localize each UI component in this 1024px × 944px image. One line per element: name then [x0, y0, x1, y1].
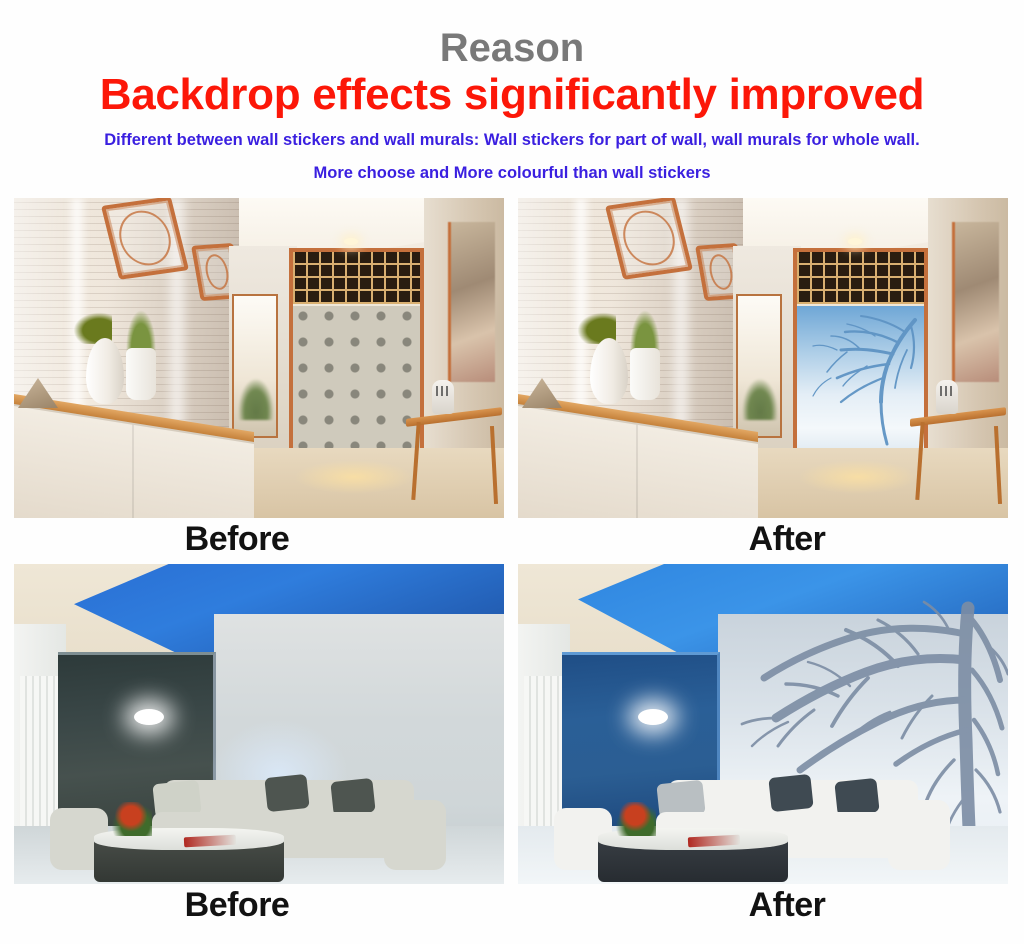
potted-plant — [630, 310, 660, 352]
comparison-row-hallway: Before — [14, 198, 1010, 564]
figurine-ornament — [936, 380, 958, 414]
comparison-grid: Before — [14, 198, 1010, 930]
ribbed-planter — [630, 348, 660, 400]
cushion-dark — [330, 778, 375, 816]
living-after-cell: After — [518, 564, 1008, 884]
caption-before: Before — [0, 520, 482, 559]
patterned-wallpaper — [293, 306, 420, 459]
decorative-grille — [797, 252, 924, 304]
right-wall-artwork — [448, 222, 495, 382]
page-title: Backdrop effects significantly improved — [0, 70, 1024, 120]
background-plant — [238, 378, 274, 420]
ceiling-downlight-icon — [344, 238, 358, 245]
figurine-ornament — [432, 380, 454, 414]
ribbed-planter — [126, 348, 156, 400]
watermark-reason: Reason — [0, 26, 1024, 71]
living-before-photo — [14, 564, 504, 884]
cushion-dark — [834, 778, 879, 816]
cushion-dark — [264, 774, 309, 812]
floor-light-pool — [798, 460, 918, 494]
caption-after: After — [542, 886, 1024, 925]
hallway-before-photo — [14, 198, 504, 518]
tree-mural-branches-icon — [797, 306, 924, 459]
hallway-after-cell: After — [518, 198, 1008, 518]
recessed-spotlight-icon — [134, 709, 164, 725]
recessed-spotlight-icon — [638, 709, 668, 725]
potted-plant — [126, 310, 156, 352]
flower-vase — [614, 802, 656, 836]
living-before-cell: Before — [14, 564, 504, 884]
ceiling-downlight-icon — [848, 238, 862, 245]
comparison-row-living-room: Before — [14, 564, 1010, 930]
caption-before: Before — [0, 886, 482, 925]
floor-light-pool — [294, 460, 414, 494]
caption-after: After — [542, 520, 1024, 559]
background-plant — [742, 378, 778, 420]
decorative-grille — [293, 252, 420, 304]
flower-vase — [110, 802, 152, 836]
subtitle-line-1: Different between wall stickers and wall… — [0, 131, 1024, 150]
sofa-arm-right — [384, 800, 446, 870]
right-wall-artwork — [952, 222, 999, 382]
hallway-after-photo — [518, 198, 1008, 518]
cushion-dark — [768, 774, 813, 812]
sofa-arm-right — [888, 800, 950, 870]
subtitle-line-2: More choose and More colourful than wall… — [0, 164, 1024, 183]
hallway-before-cell: Before — [14, 198, 504, 518]
living-after-photo — [518, 564, 1008, 884]
promo-page: Reason Backdrop effects significantly im… — [0, 0, 1024, 944]
